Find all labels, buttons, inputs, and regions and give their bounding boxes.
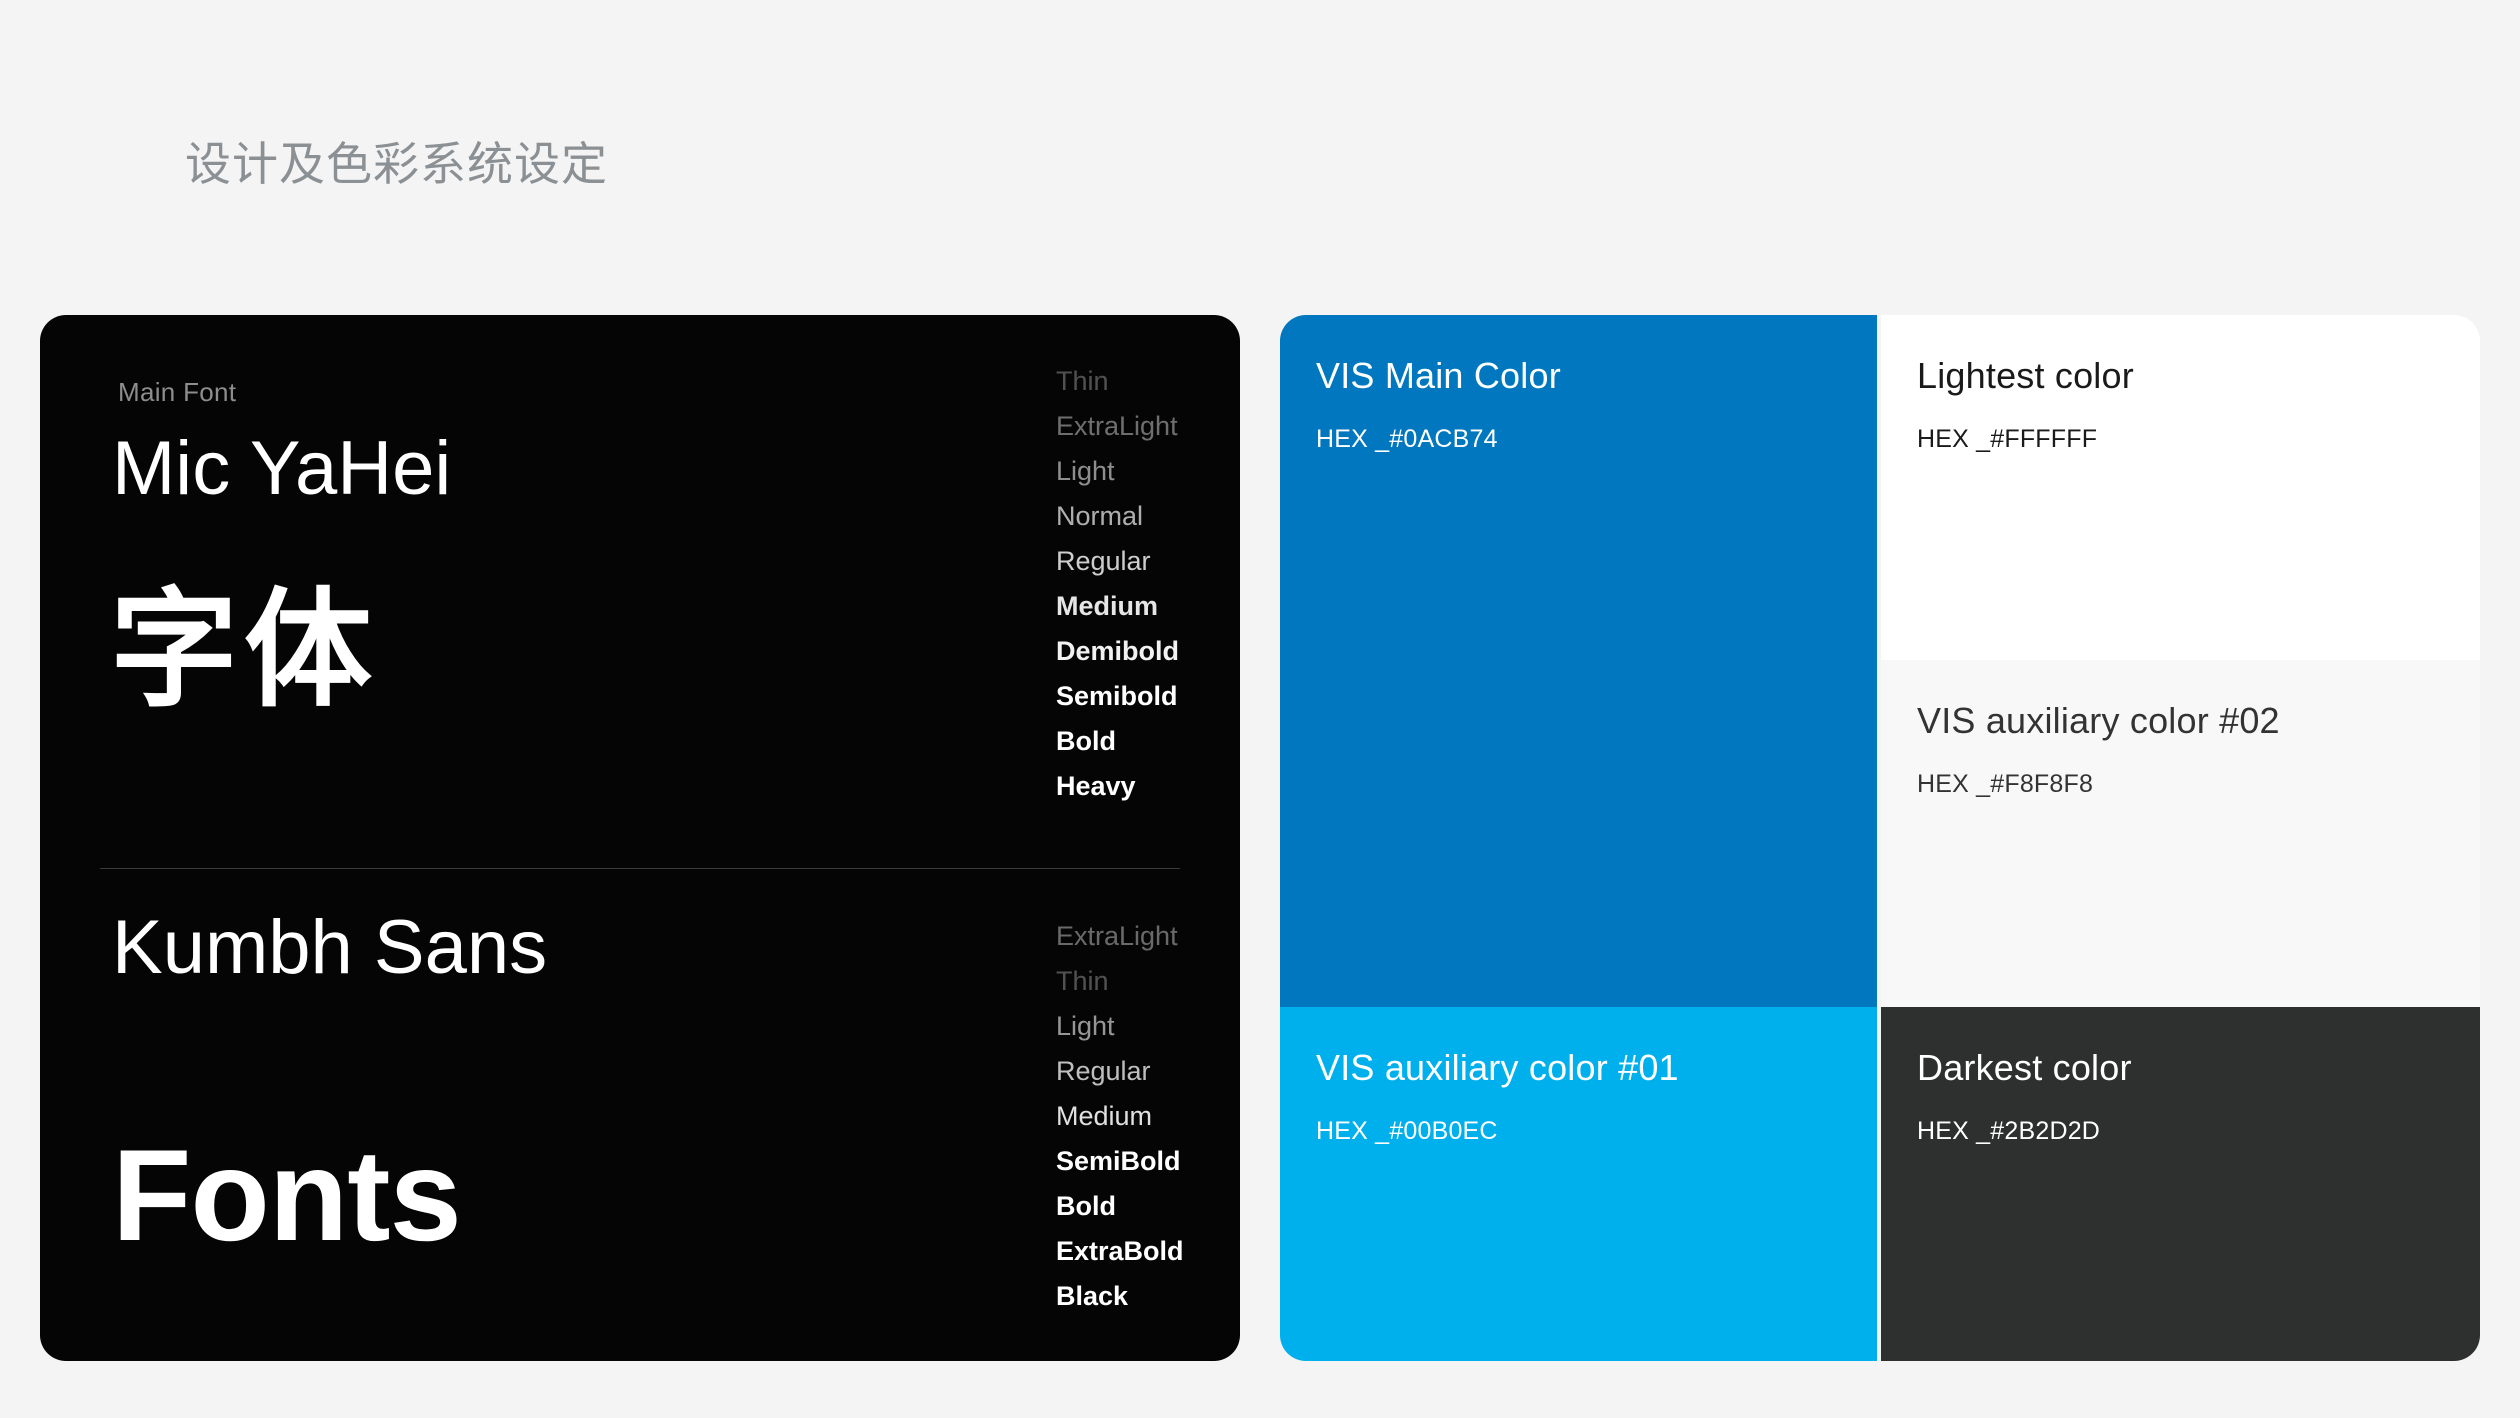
font-weight-item: Heavy (1056, 764, 1240, 809)
fonts-panel: Main Font Mic YaHei 字体 ThinExtraLightLig… (40, 315, 1240, 1361)
main-font-latin-name: Mic YaHei (112, 425, 451, 512)
secondary-font-latin-name: Kumbh Sans (112, 904, 547, 991)
font-weight-item: Semibold (1056, 674, 1240, 719)
main-font-label: Main Font (118, 377, 236, 408)
font-weight-item: Regular (1056, 539, 1240, 584)
font-weight-item: Thin (1056, 959, 1240, 1004)
color-palette-grid: VIS Main Color HEX _#0ACB74 Lightest col… (1280, 315, 2480, 1361)
swatch-hex-label: HEX _#2B2D2D (1917, 1117, 2100, 1146)
swatch-title: Lightest color (1917, 355, 2134, 397)
swatch-title: VIS auxiliary color #02 (1917, 700, 2280, 742)
main-font-cjk-name: 字体 (110, 587, 378, 715)
font-weight-item: Bold (1056, 1184, 1240, 1229)
secondary-font-weight-list: ExtraLightThinLightRegularMediumSemiBold… (1056, 914, 1240, 1319)
font-weight-item: Thin (1056, 359, 1240, 404)
swatch-title: VIS auxiliary color #01 (1316, 1047, 1679, 1089)
font-weight-item: Normal (1056, 494, 1240, 539)
font-weight-item: Demibold (1056, 629, 1240, 674)
font-weight-item: Black (1056, 1274, 1240, 1319)
font-section-main: Main Font Mic YaHei 字体 ThinExtraLightLig… (40, 315, 1240, 868)
font-weight-item: Light (1056, 449, 1240, 494)
font-weight-item: SemiBold (1056, 1139, 1240, 1184)
swatch-title: VIS Main Color (1316, 355, 1561, 397)
font-weight-item: Bold (1056, 719, 1240, 764)
font-section-secondary: Kumbh Sans Fonts ExtraLightThinLightRegu… (40, 868, 1240, 1361)
color-swatch-auxiliary-01[interactable]: VIS auxiliary color #01 HEX _#00B0EC (1280, 1007, 1877, 1361)
main-font-weight-list: ThinExtraLightLightNormalRegularMediumDe… (1056, 359, 1240, 809)
design-system-page: 设计及色彩系统设定 Main Font Mic YaHei 字体 ThinExt… (0, 0, 2520, 1418)
color-swatch-main[interactable]: VIS Main Color HEX _#0ACB74 (1280, 315, 1877, 1007)
page-title: 设计及色彩系统设定 (185, 128, 608, 194)
swatch-hex-label: HEX _#F8F8F8 (1917, 770, 2093, 799)
color-swatch-lightest[interactable]: Lightest color HEX _#FFFFFF (1881, 315, 2480, 660)
swatch-hex-label: HEX _#FFFFFF (1917, 425, 2097, 454)
font-weight-item: Medium (1056, 584, 1240, 629)
font-weight-item: Medium (1056, 1094, 1240, 1139)
swatch-hex-label: HEX _#00B0EC (1316, 1117, 1498, 1146)
color-swatch-darkest[interactable]: Darkest color HEX _#2B2D2D (1881, 1007, 2480, 1361)
font-weight-item: Light (1056, 1004, 1240, 1049)
font-weight-item: ExtraLight (1056, 914, 1240, 959)
swatch-title: Darkest color (1917, 1047, 2132, 1089)
swatch-hex-label: HEX _#0ACB74 (1316, 425, 1498, 454)
font-weight-item: ExtraBold (1056, 1229, 1240, 1274)
secondary-font-big-word: Fonts (112, 1130, 461, 1260)
font-weight-item: ExtraLight (1056, 404, 1240, 449)
font-weight-item: Regular (1056, 1049, 1240, 1094)
color-swatch-auxiliary-02[interactable]: VIS auxiliary color #02 HEX _#F8F8F8 (1881, 660, 2480, 1007)
